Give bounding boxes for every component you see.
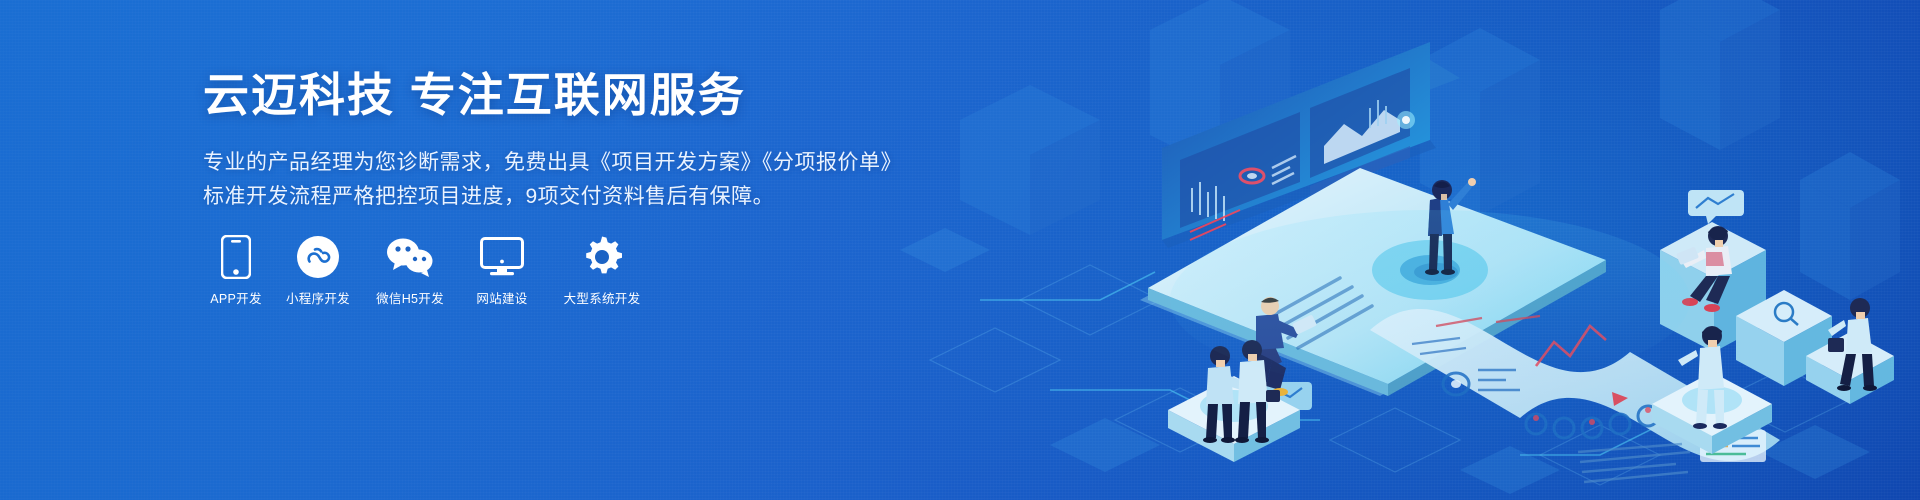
service-item-miniprogram[interactable]: 小程序开发 — [272, 233, 364, 307]
service-label: 微信H5开发 — [376, 291, 444, 307]
isometric-illustration — [900, 0, 1920, 500]
gear-icon — [578, 233, 626, 281]
wechat-icon — [386, 233, 434, 281]
hero-banner: 云迈科技 专注互联网服务 专业的产品经理为您诊断需求，免费出具《项目开发方案》《… — [0, 0, 1920, 500]
service-label: 大型系统开发 — [564, 291, 641, 307]
hero-text-block: 云迈科技 专注互联网服务 专业的产品经理为您诊断需求，免费出具《项目开发方案》《… — [203, 66, 903, 214]
service-label: 网站建设 — [476, 291, 527, 307]
hero-subtitle: 专业的产品经理为您诊断需求，免费出具《项目开发方案》《分项报价单》 标准开发流程… — [203, 146, 903, 214]
wechat-miniprogram-icon — [294, 233, 342, 281]
mobile-phone-icon — [212, 233, 260, 281]
subtitle-line-2: 标准开发流程严格把控项目进度，9项交付资料售后有保障。 — [203, 180, 903, 214]
page-title: 云迈科技 专注互联网服务 — [203, 66, 903, 124]
service-item-wechat-h5[interactable]: 微信H5开发 — [364, 233, 456, 307]
service-item-app[interactable]: APP开发 — [200, 233, 272, 307]
service-label: 小程序开发 — [286, 291, 350, 307]
desktop-monitor-icon — [478, 233, 526, 281]
service-icon-list: APP开发 小程序开发 — [200, 233, 656, 307]
subtitle-line-1: 专业的产品经理为您诊断需求，免费出具《项目开发方案》《分项报价单》 — [203, 146, 903, 180]
service-item-large-system[interactable]: 大型系统开发 — [548, 233, 656, 307]
service-item-website[interactable]: 网站建设 — [456, 233, 548, 307]
service-label: APP开发 — [210, 291, 262, 307]
